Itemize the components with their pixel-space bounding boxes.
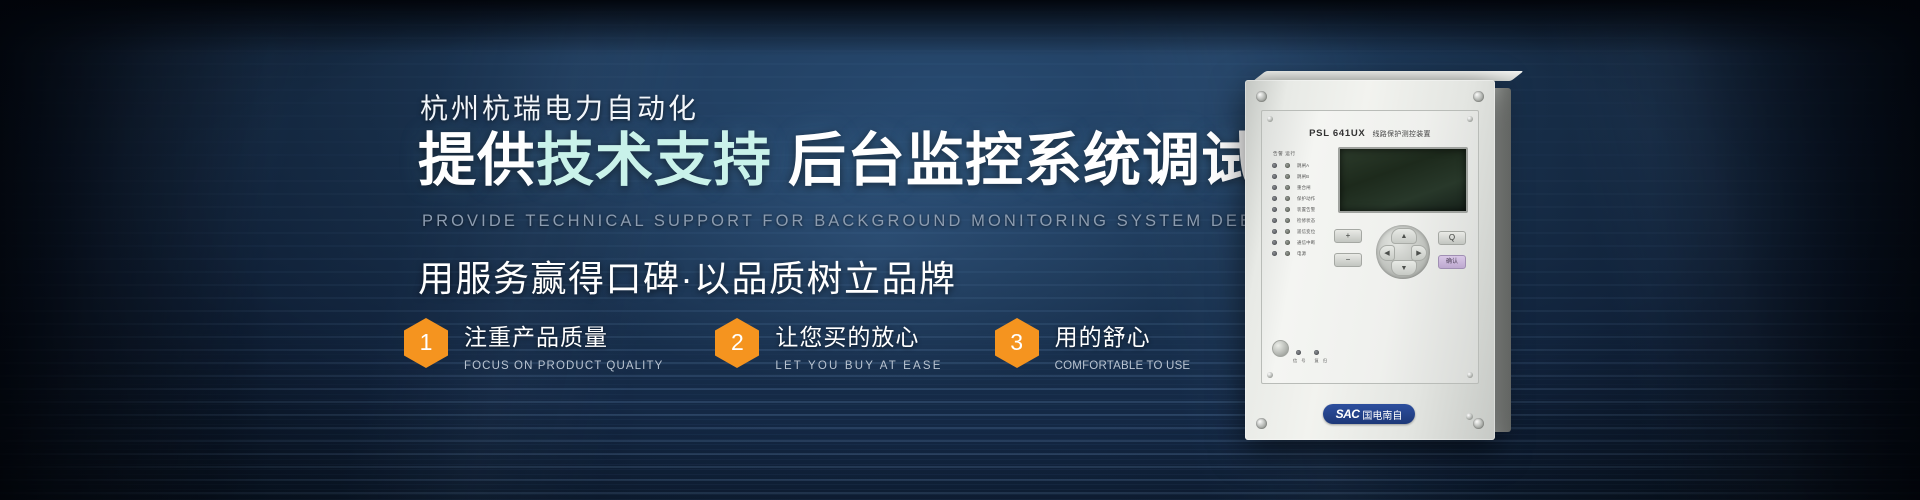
alarm-led-icon [1272, 196, 1277, 201]
led-row: 通信中断 [1272, 237, 1330, 248]
alarm-led-icon [1272, 185, 1277, 190]
feature-text: 用的舒心 COMFORTABLE TO USE [1055, 316, 1191, 372]
banner-content: 杭州杭瑞电力自动化 提供技术支持后台监控系统调试 PROVIDE TECHNIC… [0, 0, 1920, 500]
led-row: 跳闸B [1272, 171, 1330, 182]
arrow-down-button[interactable]: ▼ [1391, 260, 1417, 276]
device-front-panel: PSL 641UX线路保护测控装置 告警 运行 跳闸A 跳闸B [1261, 110, 1479, 384]
feature-subtitle-english: LET YOU BUY AT EASE [775, 360, 942, 372]
device-chassis: PSL 641UX线路保护测控装置 告警 运行 跳闸A 跳闸B [1245, 80, 1495, 440]
feature-title: 用的舒心 [1055, 318, 1191, 352]
device-side-panel [1494, 88, 1511, 432]
led-label: 保护动作 [1297, 196, 1315, 202]
status-led-icon [1285, 163, 1290, 168]
chassis-screw-icon [1256, 91, 1267, 102]
alarm-led-icon [1272, 163, 1277, 168]
product-device-image: PSL 641UX线路保护测控装置 告警 运行 跳闸A 跳闸B [1245, 80, 1495, 440]
feature-list: 1 注重产品质量 FOCUS ON PRODUCT QUALITY 2 让您买的… [404, 316, 1242, 372]
alarm-led-icon [1272, 207, 1277, 212]
device-model-code: PSL 641UX [1309, 128, 1365, 139]
device-model-label: PSL 641UX线路保护测控装置 [1262, 128, 1478, 139]
feature-subtitle-english: FOCUS ON PRODUCT QUALITY [464, 360, 663, 372]
navigation-dpad: ▲ ▼ ◀ ▶ [1376, 225, 1430, 279]
decrease-button[interactable]: − [1334, 253, 1362, 267]
brand-logo-name: 国电南自 [1362, 407, 1402, 422]
led-label: 电源 [1297, 251, 1306, 257]
device-lcd-screen [1338, 147, 1468, 213]
brand-logo: SAC 国电南自 [1323, 404, 1415, 424]
promo-banner: 杭州杭瑞电力自动化 提供技术支持后台监控系统调试 PROVIDE TECHNIC… [0, 0, 1920, 500]
led-row: 电源 [1272, 248, 1330, 259]
led-label: 跳闸B [1297, 174, 1309, 180]
led-label: 通信中断 [1297, 240, 1315, 246]
headline-subtitle-english: PROVIDE TECHNICAL SUPPORT FOR BACKGROUND… [422, 212, 1340, 231]
chassis-screw-icon [1473, 418, 1484, 429]
arrow-right-button[interactable]: ▶ [1411, 245, 1427, 261]
alarm-led-icon [1272, 218, 1277, 223]
device-model-description: 线路保护测控装置 [1372, 131, 1430, 138]
signal-led-icon [1296, 350, 1301, 355]
led-row: 保护动作 [1272, 193, 1330, 204]
hexagon-badge-icon: 1 [404, 318, 448, 368]
led-label: 装置告警 [1297, 207, 1315, 213]
device-control-panel: + − Q 确认 ▲ ▼ ◀ ▶ [1334, 223, 1470, 287]
led-row: 装置告警 [1272, 204, 1330, 215]
panel-screw-icon [1467, 116, 1473, 122]
feature-item: 3 用的舒心 COMFORTABLE TO USE [995, 316, 1191, 372]
led-label: 重合闸 [1297, 185, 1311, 191]
alarm-led-icon [1272, 251, 1277, 256]
increase-button[interactable]: + [1334, 229, 1362, 243]
brand-logo-mark: SAC [1336, 407, 1360, 421]
feature-item: 2 让您买的放心 LET YOU BUY AT EASE [715, 316, 942, 372]
led-panel-header: 告警 运行 [1272, 151, 1330, 157]
enter-button[interactable]: 确认 [1438, 255, 1466, 269]
bottom-led-labels: 信号 复归 [1293, 358, 1331, 364]
company-name: 杭州杭瑞电力自动化 [420, 87, 699, 127]
headline-accent: 技术支持 [536, 128, 772, 193]
arrow-left-button[interactable]: ◀ [1379, 245, 1395, 261]
alarm-led-icon [1272, 174, 1277, 179]
status-led-icon [1285, 174, 1290, 179]
chassis-screw-icon [1466, 413, 1473, 420]
hexagon-badge-icon: 2 [715, 318, 759, 368]
chassis-screw-icon [1473, 91, 1484, 102]
feature-text: 让您买的放心 LET YOU BUY AT EASE [775, 316, 942, 372]
led-label: 遥信变位 [1297, 229, 1315, 235]
feature-subtitle-english: COMFORTABLE TO USE [1055, 360, 1191, 372]
hexagon-badge-icon: 3 [995, 318, 1039, 368]
status-led-icon [1285, 229, 1290, 234]
feature-text: 注重产品质量 FOCUS ON PRODUCT QUALITY [464, 316, 663, 372]
bottom-led-row [1296, 350, 1332, 355]
slogan: 用服务赢得口碑·以品质树立品牌 [418, 250, 957, 302]
headline-part-1: 提供 [418, 128, 536, 193]
feature-number: 3 [995, 318, 1039, 368]
chassis-screw-icon [1256, 418, 1267, 429]
feature-title: 注重产品质量 [464, 318, 663, 352]
led-row: 检修状态 [1272, 215, 1330, 226]
headline-part-2: 后台监控系统调试 [788, 128, 1260, 193]
panel-screw-icon [1467, 372, 1473, 378]
headline: 提供技术支持后台监控系统调试 [418, 132, 1260, 190]
status-led-icon [1285, 218, 1290, 223]
feature-title: 让您买的放心 [775, 318, 942, 352]
feature-item: 1 注重产品质量 FOCUS ON PRODUCT QUALITY [404, 316, 663, 372]
feature-number: 1 [404, 318, 448, 368]
led-indicator-panel: 告警 运行 跳闸A 跳闸B 重合闸 [1272, 151, 1330, 259]
status-led-icon [1285, 196, 1290, 201]
alarm-led-icon [1272, 229, 1277, 234]
panel-screw-icon [1267, 372, 1273, 378]
status-led-icon [1285, 251, 1290, 256]
led-label: 检修状态 [1297, 218, 1315, 224]
quit-button[interactable]: Q [1438, 231, 1466, 245]
status-led-icon [1285, 240, 1290, 245]
status-led-icon [1285, 185, 1290, 190]
feature-number: 2 [715, 318, 759, 368]
reset-knob[interactable] [1272, 340, 1289, 357]
panel-screw-icon [1267, 116, 1273, 122]
led-label: 跳闸A [1297, 163, 1309, 169]
status-led-icon [1285, 207, 1290, 212]
reset-led-icon [1314, 350, 1319, 355]
led-row: 跳闸A [1272, 160, 1330, 171]
led-row: 遥信变位 [1272, 226, 1330, 237]
arrow-up-button[interactable]: ▲ [1391, 228, 1417, 244]
led-row: 重合闸 [1272, 182, 1330, 193]
alarm-led-icon [1272, 240, 1277, 245]
